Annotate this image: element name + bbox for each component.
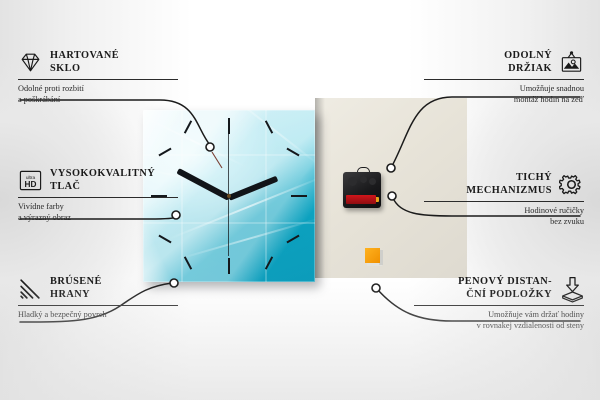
feature-rule bbox=[18, 197, 178, 198]
connector-dot-1 bbox=[206, 143, 214, 151]
feature-desc: Umožňuje snadnou montáž hodin na zeď bbox=[424, 84, 584, 105]
svg-text:HD: HD bbox=[25, 180, 37, 189]
feature-rule bbox=[424, 201, 584, 202]
beveled-edges-icon bbox=[18, 276, 43, 301]
connector-path-1 bbox=[20, 100, 210, 145]
feature-title: HARTOVANÉ SKLO bbox=[50, 50, 119, 75]
gear-icon bbox=[559, 172, 584, 197]
feature-foam-spacers: PENOVÝ DISTAN- ČNÍ PODLOŽKY Umožňuje vám… bbox=[414, 276, 584, 331]
feature-desc: Vivídne farby a výrazný obraz bbox=[18, 202, 178, 223]
feature-desc: Odolné proti rozbití a poškrábání bbox=[18, 84, 178, 105]
feature-beveled-edges: BRÚSENÉ HRANY Hladký a bezpečný povrch bbox=[18, 276, 178, 321]
feature-desc: Hodinové ručičky bez zvuku bbox=[424, 206, 584, 227]
connector-dot-4 bbox=[387, 164, 395, 172]
feature-title: ODOLNÝ DRŽIAK bbox=[504, 50, 552, 75]
press-down-pad-icon bbox=[559, 276, 584, 301]
infographic-canvas: HARTOVANÉ SKLO Odolné proti rozbití a po… bbox=[0, 0, 600, 400]
feature-hardened-glass: HARTOVANÉ SKLO Odolné proti rozbití a po… bbox=[18, 50, 178, 105]
feature-rule bbox=[18, 79, 178, 80]
wall-hanger-icon bbox=[559, 50, 584, 75]
feature-desc: Umožňuje vám držať hodiny v rovnakej vzd… bbox=[414, 310, 584, 331]
feature-silent-mechanism: TICHÝ MECHANIZMUS Hodinové ručičky bez z… bbox=[424, 172, 584, 227]
feature-rule bbox=[414, 305, 584, 306]
feature-title: VYSOKOKVALITNÝ TLAČ bbox=[50, 168, 155, 193]
connector-dot-5 bbox=[388, 192, 396, 200]
connector-path-4 bbox=[392, 97, 580, 166]
diamond-icon bbox=[18, 50, 43, 75]
feature-title: BRÚSENÉ HRANY bbox=[50, 276, 102, 301]
feature-rule bbox=[18, 305, 178, 306]
feature-title: PENOVÝ DISTAN- ČNÍ PODLOŽKY bbox=[458, 276, 552, 301]
connector-dot-6 bbox=[372, 284, 380, 292]
feature-desc: Hladký a bezpečný povrch bbox=[18, 310, 178, 321]
ultra-hd-icon: ultra HD bbox=[18, 168, 43, 193]
feature-title: TICHÝ MECHANIZMUS bbox=[466, 172, 552, 197]
feature-rule bbox=[424, 79, 584, 80]
feature-durable-hanger: ODOLNÝ DRŽIAK Umožňuje snadnou montáž ho… bbox=[424, 50, 584, 105]
feature-high-quality-print: ultra HD VYSOKOKVALITNÝ TLAČ Vivídne far… bbox=[18, 168, 178, 223]
